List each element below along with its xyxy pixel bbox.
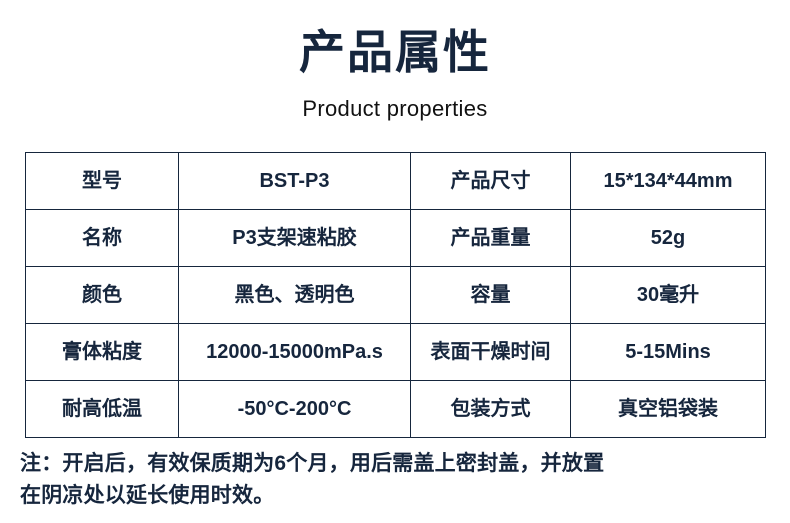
footer-note-line-1: 注：开启后，有效保质期为6个月，用后需盖上密封盖，并放置 xyxy=(20,448,772,480)
table-row: 耐高低温 -50°C-200°C 包装方式 真空铝袋装 xyxy=(26,381,766,438)
table-row: 颜色 黑色、透明色 容量 30毫升 xyxy=(26,267,766,324)
spec-value-dimensions: 15*134*44mm xyxy=(571,153,766,210)
spec-value-name: P3支架速粘胶 xyxy=(179,210,411,267)
spec-value-temperature: -50°C-200°C xyxy=(179,381,411,438)
spec-label-dry-time: 表面干燥时间 xyxy=(411,324,571,381)
table-row: 名称 P3支架速粘胶 产品重量 52g xyxy=(26,210,766,267)
spec-value-dry-time: 5-15Mins xyxy=(571,324,766,381)
spec-value-model: BST-P3 xyxy=(179,153,411,210)
product-properties-table: 型号 BST-P3 产品尺寸 15*134*44mm 名称 P3支架速粘胶 产品… xyxy=(25,152,766,438)
spec-label-capacity: 容量 xyxy=(411,267,571,324)
spec-label-dimensions: 产品尺寸 xyxy=(411,153,571,210)
spec-value-viscosity: 12000-15000mPa.s xyxy=(179,324,411,381)
spec-label-color: 颜色 xyxy=(26,267,179,324)
table-row: 型号 BST-P3 产品尺寸 15*134*44mm xyxy=(26,153,766,210)
spec-label-viscosity: 膏体粘度 xyxy=(26,324,179,381)
spec-label-name: 名称 xyxy=(26,210,179,267)
spec-label-weight: 产品重量 xyxy=(411,210,571,267)
page-title-english: Product properties xyxy=(0,94,790,124)
spec-label-packaging: 包装方式 xyxy=(411,381,571,438)
spec-label-model: 型号 xyxy=(26,153,179,210)
spec-value-packaging: 真空铝袋装 xyxy=(571,381,766,438)
footer-note-line-2: 在阴凉处以延长使用时效。 xyxy=(20,480,772,512)
spec-value-capacity: 30毫升 xyxy=(571,267,766,324)
spec-value-weight: 52g xyxy=(571,210,766,267)
spec-label-temperature: 耐高低温 xyxy=(26,381,179,438)
table-row: 膏体粘度 12000-15000mPa.s 表面干燥时间 5-15Mins xyxy=(26,324,766,381)
page-title-chinese: 产品属性 xyxy=(0,24,790,80)
footer-note: 注：开启后，有效保质期为6个月，用后需盖上密封盖，并放置 在阴凉处以延长使用时效… xyxy=(20,448,772,512)
spec-value-color: 黑色、透明色 xyxy=(179,267,411,324)
